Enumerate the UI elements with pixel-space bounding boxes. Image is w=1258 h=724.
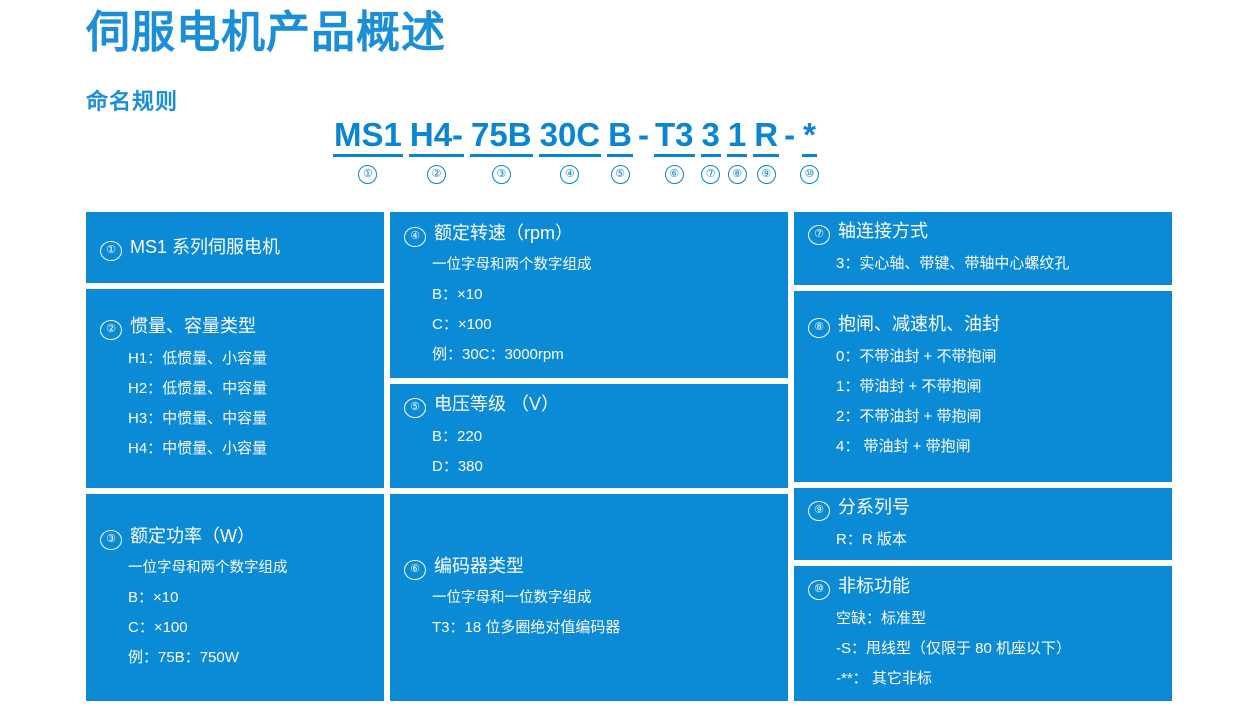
spec-line: C：×100 [128, 613, 370, 643]
code-number-1: ① [358, 165, 377, 184]
spec-cell-1-title: ① MS1 系列伺服电机 [100, 234, 370, 261]
spec-line: 一位字母和两个数字组成 [128, 554, 370, 583]
code-segment-5: B ⑤ [607, 118, 633, 184]
circled-number-10-icon: ⑩ [808, 580, 830, 600]
spec-cell-7-title: ⑦ 轴连接方式 [808, 218, 1158, 245]
code-number-7: ⑦ [701, 165, 720, 184]
code-number-2: ② [427, 165, 446, 184]
circled-number-5-icon: ⑤ [404, 398, 426, 418]
spec-line: B：×10 [432, 280, 774, 310]
spec-line: T3：18 位多圈绝对值编码器 [432, 613, 774, 643]
circled-number-6-icon: ⑥ [404, 560, 426, 580]
spec-line: 空缺：标准型 [836, 604, 1158, 634]
code-text-10: * [802, 118, 817, 157]
code-segment-6: T3 ⑥ [654, 118, 695, 184]
spec-line: R：R 版本 [836, 525, 1158, 555]
code-number-8: ⑧ [728, 165, 747, 184]
spec-cell-4: ④ 额定转速（rpm） 一位字母和两个数字组成 B：×10 C：×100 例：3… [390, 212, 788, 378]
code-text-6: T3 [654, 118, 695, 157]
spec-cell-7-label: 轴连接方式 [838, 218, 928, 245]
spec-line: 2：不带油封 + 带抱闸 [836, 402, 1158, 432]
spec-line: D：380 [432, 452, 774, 482]
spec-cell-4-label: 额定转速（rpm） [434, 220, 573, 247]
spec-cell-8-label: 抱闸、减速机、油封 [838, 311, 1000, 338]
spec-cell-2-title: ② 惯量、容量类型 [100, 313, 370, 340]
code-text-2: H4- [409, 118, 464, 157]
spec-column-2: ④ 额定转速（rpm） 一位字母和两个数字组成 B：×10 C：×100 例：3… [390, 212, 788, 701]
spec-line: 一位字母和一位数字组成 [432, 584, 774, 613]
spec-cell-3: ③ 额定功率（W） 一位字母和两个数字组成 B：×10 C：×100 例：75B… [86, 494, 384, 701]
spec-cell-5-lines: B：220 D：380 [404, 422, 774, 482]
spec-line: H2：低惯量、中容量 [128, 374, 370, 404]
spec-cell-10: ⑩ 非标功能 空缺：标准型 -S：甩线型（仅限于 80 机座以下） -**： 其… [794, 566, 1172, 701]
spec-cell-10-lines: 空缺：标准型 -S：甩线型（仅限于 80 机座以下） -**： 其它非标 [808, 604, 1158, 694]
spec-cell-9-lines: R：R 版本 [808, 525, 1158, 555]
page-title: 伺服电机产品概述 [86, 8, 446, 59]
code-number-9: ⑨ [757, 165, 776, 184]
spec-cell-10-title: ⑩ 非标功能 [808, 573, 1158, 600]
code-segment-7: 3 ⑦ [701, 118, 721, 184]
code-number-6: ⑥ [665, 165, 684, 184]
circled-number-8-icon: ⑧ [808, 318, 830, 338]
spec-column-3: ⑦ 轴连接方式 3：实心轴、带键、带轴中心螺纹孔 ⑧ 抱闸、减速机、油封 0：不… [794, 212, 1172, 701]
spec-cell-6-label: 编码器类型 [434, 553, 524, 580]
spec-cell-2-lines: H1：低惯量、小容量 H2：低惯量、中容量 H3：中惯量、中容量 H4：中惯量、… [100, 344, 370, 464]
spec-cell-3-label: 额定功率（W） [130, 523, 255, 550]
code-segment-4: 30C ④ [539, 118, 602, 184]
code-text-3: 75B [470, 118, 533, 157]
spec-cell-2: ② 惯量、容量类型 H1：低惯量、小容量 H2：低惯量、中容量 H3：中惯量、中… [86, 289, 384, 488]
spec-cell-9: ⑨ 分系列号 R：R 版本 [794, 488, 1172, 560]
spec-cell-9-title: ⑨ 分系列号 [808, 494, 1158, 521]
spec-line: B：×10 [128, 583, 370, 613]
circled-number-9-icon: ⑨ [808, 501, 830, 521]
spec-line: 1：带油封 + 不带抱闸 [836, 372, 1158, 402]
code-number-10: ⑩ [800, 165, 819, 184]
spec-cell-1-label: MS1 系列伺服电机 [130, 234, 280, 261]
spec-cell-7: ⑦ 轴连接方式 3：实心轴、带键、带轴中心螺纹孔 [794, 212, 1172, 285]
spec-cell-8-lines: 0：不带油封 + 不带抱闸 1：带油封 + 不带抱闸 2：不带油封 + 带抱闸 … [808, 342, 1158, 462]
spec-cell-9-label: 分系列号 [838, 494, 910, 521]
naming-rule-table: ① MS1 系列伺服电机 ② 惯量、容量类型 H1：低惯量、小容量 H2：低惯量… [86, 212, 1172, 701]
spec-line: 3：实心轴、带键、带轴中心螺纹孔 [836, 249, 1158, 279]
spec-cell-10-label: 非标功能 [838, 573, 910, 600]
spec-cell-6-lines: 一位字母和一位数字组成 T3：18 位多圈绝对值编码器 [404, 584, 774, 643]
circled-number-7-icon: ⑦ [808, 225, 830, 245]
code-segment-10: * ⑩ [800, 118, 819, 184]
code-text-4: 30C [539, 118, 602, 157]
code-segment-3: 75B ③ [470, 118, 533, 184]
spec-line: 0：不带油封 + 不带抱闸 [836, 342, 1158, 372]
spec-line: 例：75B：750W [128, 643, 370, 673]
spec-line: B：220 [432, 422, 774, 452]
spec-line: C：×100 [432, 310, 774, 340]
circled-number-4-icon: ④ [404, 227, 426, 247]
code-number-3: ③ [492, 165, 511, 184]
spec-cell-6: ⑥ 编码器类型 一位字母和一位数字组成 T3：18 位多圈绝对值编码器 [390, 494, 788, 701]
code-number-4: ④ [560, 165, 579, 184]
spec-line: 一位字母和两个数字组成 [432, 251, 774, 280]
code-separator-1: - [638, 118, 649, 179]
code-text-7: 3 [701, 118, 721, 157]
spec-cell-8-title: ⑧ 抱闸、减速机、油封 [808, 311, 1158, 338]
spec-line: 例：30C：3000rpm [432, 340, 774, 370]
circled-number-3-icon: ③ [100, 530, 122, 550]
spec-cell-5: ⑤ 电压等级 （V） B：220 D：380 [390, 384, 788, 488]
code-segment-2: H4- ② [409, 118, 464, 184]
spec-line: H3：中惯量、中容量 [128, 404, 370, 434]
code-text-8: 1 [727, 118, 747, 157]
model-code-diagram: MS1 ① H4- ② 75B ③ 30C ④ B ⑤ - T3 ⑥ 3 ⑦ 1… [330, 118, 822, 184]
code-text-1: MS1 [333, 118, 403, 157]
spec-cell-8: ⑧ 抱闸、减速机、油封 0：不带油封 + 不带抱闸 1：带油封 + 不带抱闸 2… [794, 291, 1172, 482]
code-text-5: B [607, 118, 633, 157]
code-segment-1: MS1 ① [333, 118, 403, 184]
spec-line: 4： 带油封 + 带抱闸 [836, 432, 1158, 462]
section-subtitle: 命名规则 [86, 84, 178, 116]
spec-line: H4：中惯量、小容量 [128, 434, 370, 464]
code-number-5: ⑤ [611, 165, 630, 184]
code-separator-2: - [784, 118, 795, 179]
spec-line: -S：甩线型（仅限于 80 机座以下） [836, 634, 1158, 664]
spec-cell-6-title: ⑥ 编码器类型 [404, 553, 774, 580]
spec-cell-1: ① MS1 系列伺服电机 [86, 212, 384, 283]
circled-number-1-icon: ① [100, 241, 122, 261]
spec-cell-5-label: 电压等级 （V） [434, 391, 559, 418]
code-segment-9: R ⑨ [753, 118, 779, 184]
spec-cell-3-lines: 一位字母和两个数字组成 B：×10 C：×100 例：75B：750W [100, 554, 370, 673]
spec-line: H1：低惯量、小容量 [128, 344, 370, 374]
spec-cell-3-title: ③ 额定功率（W） [100, 523, 370, 550]
spec-cell-4-lines: 一位字母和两个数字组成 B：×10 C：×100 例：30C：3000rpm [404, 251, 774, 370]
spec-cell-7-lines: 3：实心轴、带键、带轴中心螺纹孔 [808, 249, 1158, 279]
code-segment-8: 1 ⑧ [727, 118, 747, 184]
spec-cell-4-title: ④ 额定转速（rpm） [404, 220, 774, 247]
spec-cell-5-title: ⑤ 电压等级 （V） [404, 391, 774, 418]
spec-column-1: ① MS1 系列伺服电机 ② 惯量、容量类型 H1：低惯量、小容量 H2：低惯量… [86, 212, 384, 701]
spec-line: -**： 其它非标 [836, 664, 1158, 694]
spec-cell-2-label: 惯量、容量类型 [130, 313, 256, 340]
code-text-9: R [753, 118, 779, 157]
circled-number-2-icon: ② [100, 320, 122, 340]
